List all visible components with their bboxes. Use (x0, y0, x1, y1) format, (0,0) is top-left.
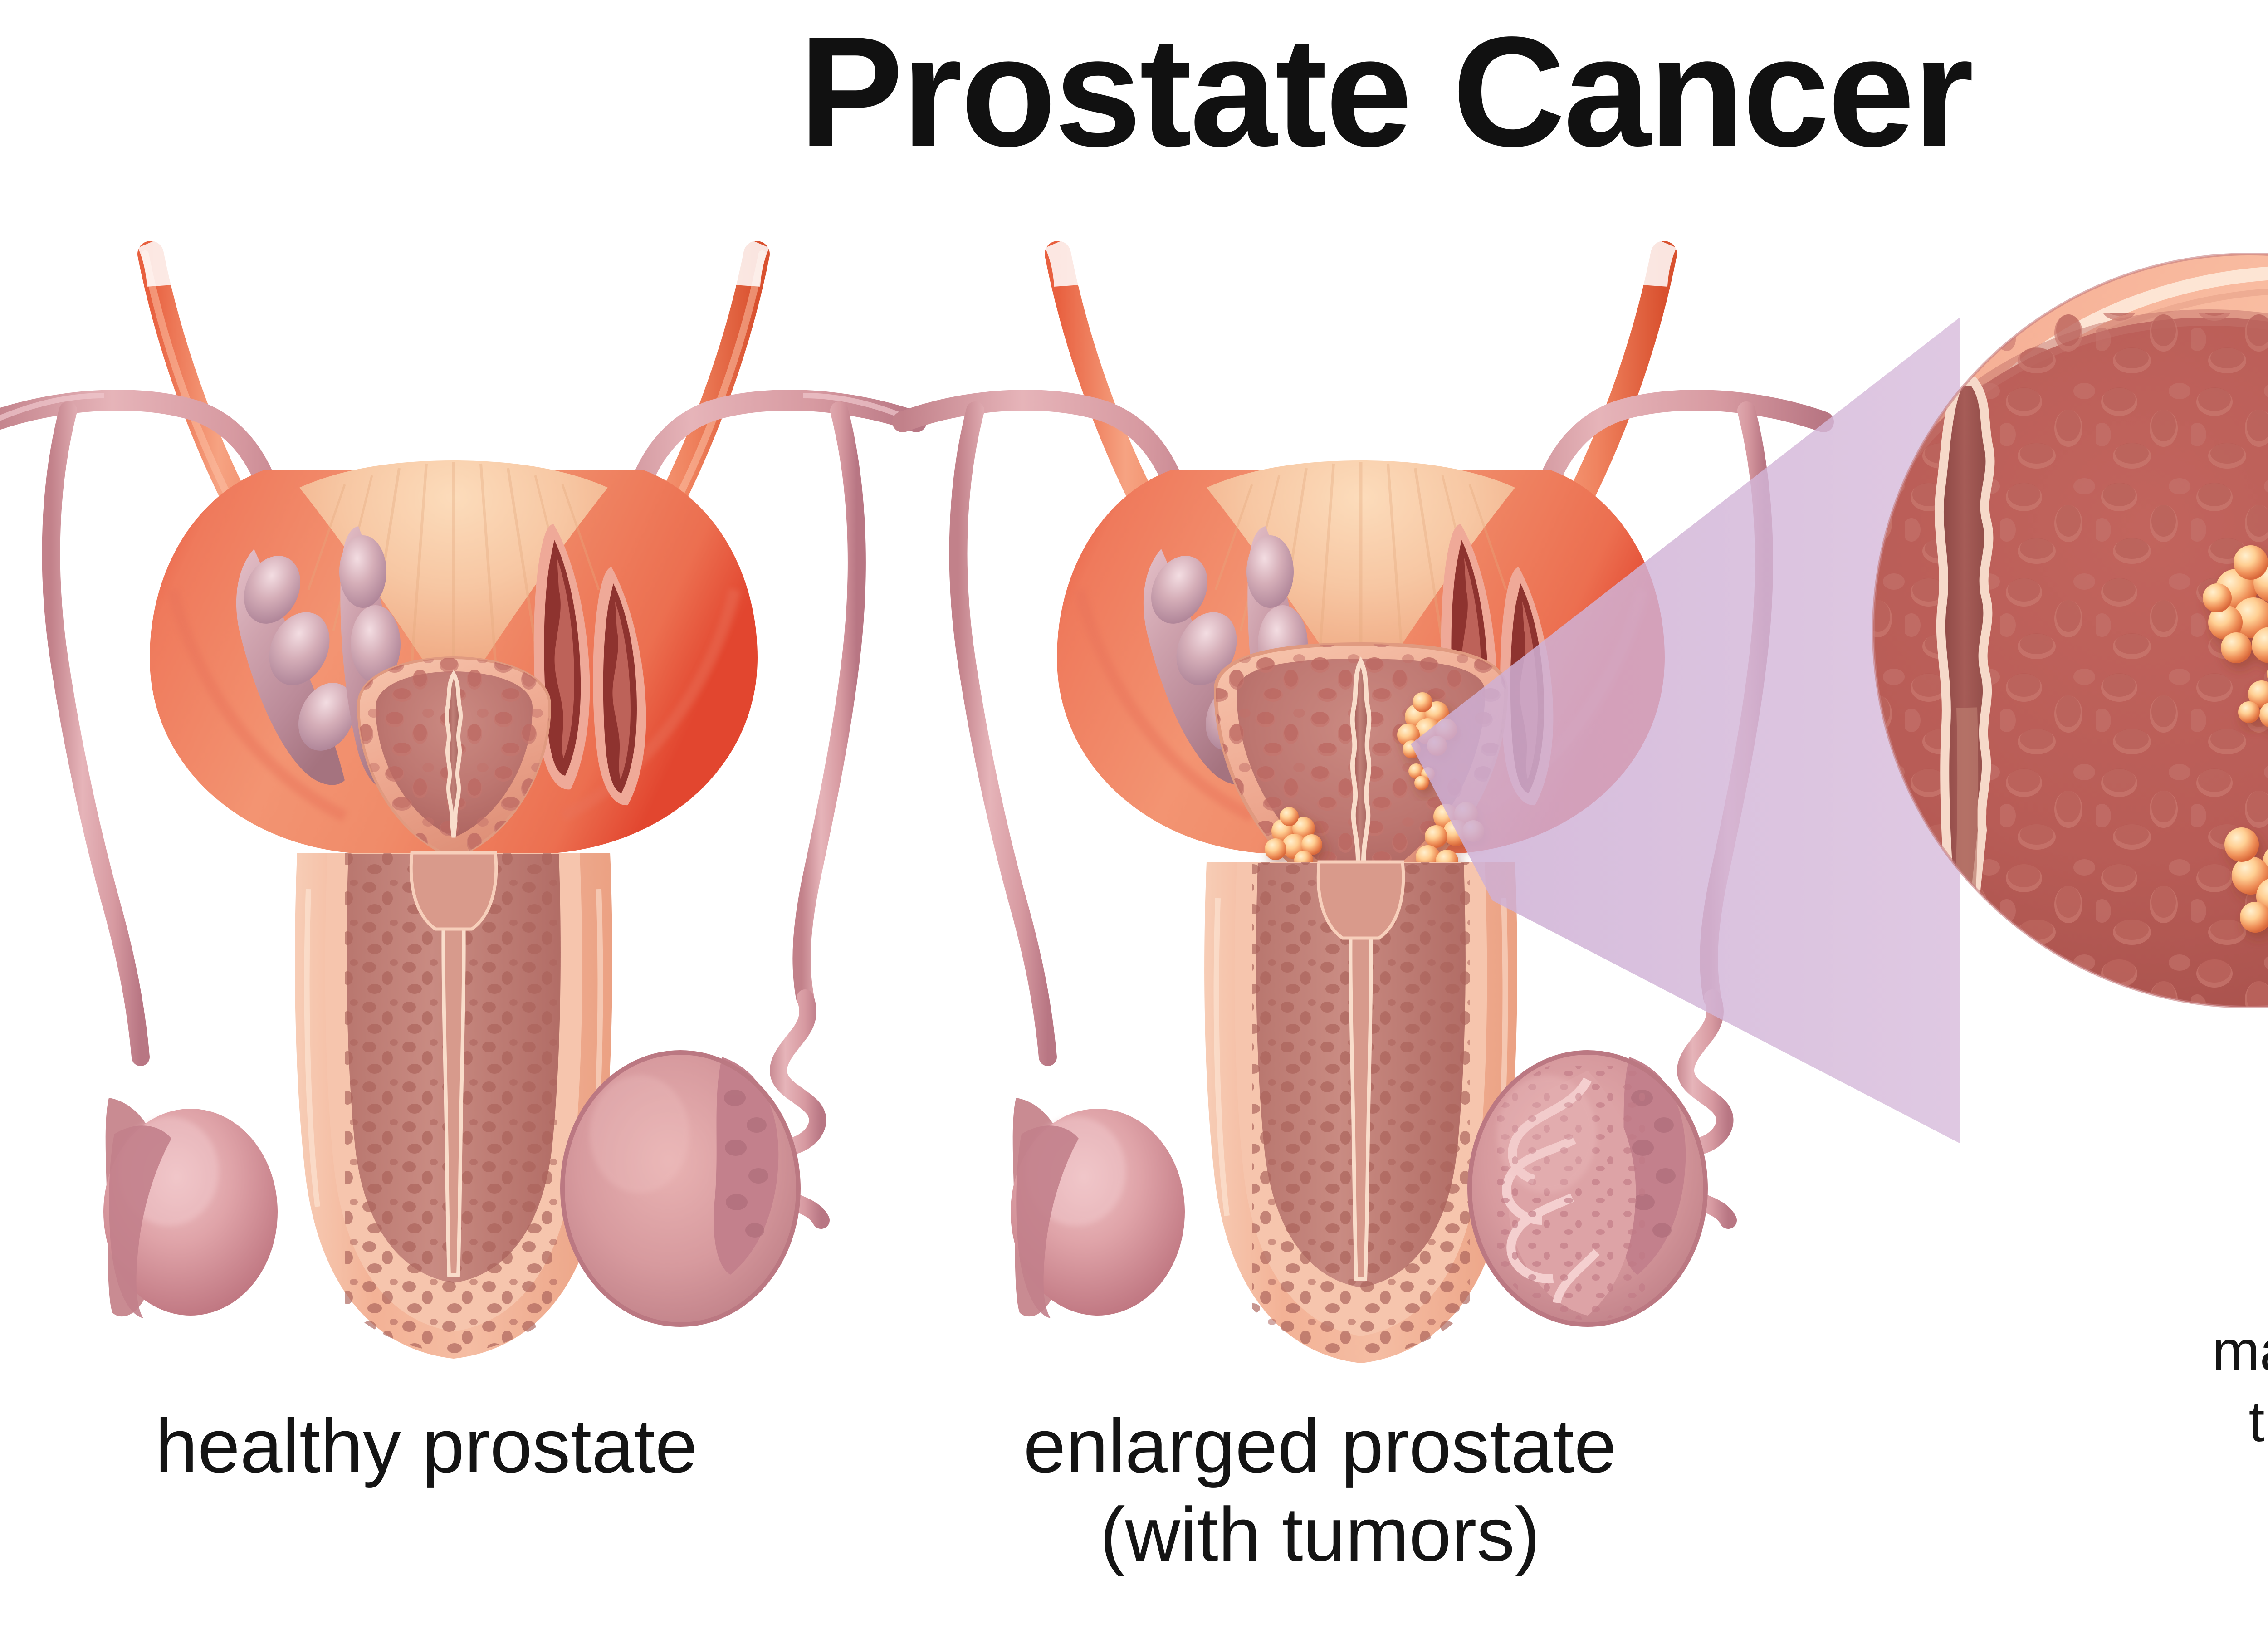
illustration-canvas: Prostate Cancer (0, 0, 2268, 1634)
testicle-left (103, 1098, 278, 1318)
label-malignant-tumors: magilnant tumors (2123, 1316, 2268, 1457)
urethral-canal (1939, 381, 1990, 907)
testicle-right-cutaway (562, 1052, 798, 1325)
caption-healthy-prostate: healthy prostate (27, 1402, 826, 1490)
testicle-left (1011, 1098, 1185, 1318)
penis-shaft (1204, 862, 1517, 1370)
testicle-right-cutaway (1470, 1052, 1706, 1325)
penis-shaft (295, 853, 612, 1361)
anatomy-illustration (0, 0, 2268, 1634)
healthy-prostate-figure (0, 243, 916, 1361)
caption-enlarged-prostate: enlarged prostate (with tumors) (889, 1402, 1751, 1579)
